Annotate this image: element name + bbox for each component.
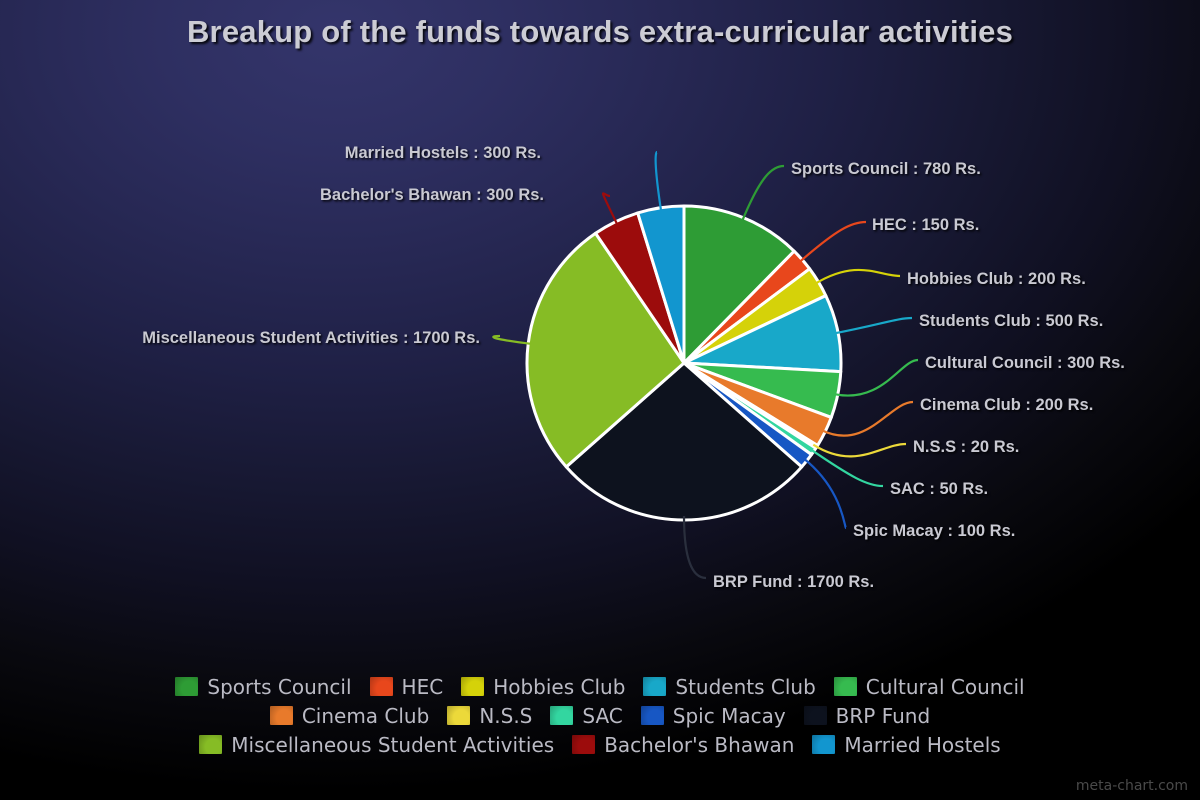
legend-swatch — [804, 706, 827, 725]
watermark: meta-chart.com — [1076, 778, 1188, 794]
legend-label: HEC — [402, 677, 444, 697]
callout-nss: N.S.S : 20 Rs. — [913, 438, 1019, 457]
chart-canvas: Breakup of the funds towards extra-curri… — [0, 0, 1200, 800]
legend-row: Sports CouncilHECHobbies ClubStudents Cl… — [0, 672, 1200, 701]
legend-swatch — [641, 706, 664, 725]
callout-hec: HEC : 150 Rs. — [872, 216, 979, 235]
legend-label: Bachelor's Bhawan — [604, 735, 794, 755]
leader-line — [603, 193, 618, 225]
legend-label: Cinema Club — [302, 706, 430, 726]
callout-students-club: Students Club : 500 Rs. — [919, 312, 1103, 331]
legend-swatch — [834, 677, 857, 696]
legend-item[interactable]: Bachelor's Bhawan — [572, 735, 794, 755]
callout-misc-student-activities: Miscellaneous Student Activities : 1700 … — [142, 329, 480, 348]
leader-line — [815, 270, 900, 284]
pie-slices — [527, 206, 841, 520]
leader-line — [493, 336, 532, 344]
leader-line — [813, 444, 906, 456]
callout-bachelors-bhawan: Bachelor's Bhawan : 300 Rs. — [320, 186, 544, 205]
leader-line — [834, 360, 918, 396]
leader-line — [810, 449, 883, 486]
legend-swatch — [550, 706, 573, 725]
legend-swatch — [370, 677, 393, 696]
callout-cinema-club: Cinema Club : 200 Rs. — [920, 396, 1093, 415]
legend: Sports CouncilHECHobbies ClubStudents Cl… — [0, 672, 1200, 759]
callout-sac: SAC : 50 Rs. — [890, 480, 988, 499]
legend-swatch — [461, 677, 484, 696]
legend-row: Cinema ClubN.S.SSACSpic MacayBRP Fund — [0, 701, 1200, 730]
legend-label: Students Club — [675, 677, 815, 697]
legend-label: N.S.S — [479, 706, 532, 726]
callout-spic-macay: Spic Macay : 100 Rs. — [853, 522, 1015, 541]
legend-row: Miscellaneous Student ActivitiesBachelor… — [0, 730, 1200, 759]
legend-item[interactable]: BRP Fund — [804, 706, 931, 726]
legend-swatch — [199, 735, 222, 754]
legend-item[interactable]: HEC — [370, 677, 444, 697]
callout-hobbies-club: Hobbies Club : 200 Rs. — [907, 270, 1086, 289]
legend-item[interactable]: Sports Council — [175, 677, 351, 697]
legend-swatch — [812, 735, 835, 754]
legend-swatch — [572, 735, 595, 754]
legend-swatch — [447, 706, 470, 725]
leader-line — [656, 152, 662, 212]
legend-label: SAC — [582, 706, 622, 726]
leader-line — [834, 318, 912, 333]
callout-married-hostels: Married Hostels : 300 Rs. — [345, 144, 541, 163]
legend-label: Cultural Council — [866, 677, 1025, 697]
legend-label: BRP Fund — [836, 706, 931, 726]
leader-line — [684, 516, 706, 578]
legend-label: Miscellaneous Student Activities — [231, 735, 554, 755]
legend-swatch — [643, 677, 666, 696]
legend-item[interactable]: Married Hostels — [812, 735, 1000, 755]
callout-sports-council: Sports Council : 780 Rs. — [791, 160, 981, 179]
legend-item[interactable]: Spic Macay — [641, 706, 786, 726]
legend-item[interactable]: Cinema Club — [270, 706, 430, 726]
legend-label: Married Hostels — [844, 735, 1000, 755]
legend-label: Sports Council — [207, 677, 351, 697]
legend-item[interactable]: Cultural Council — [834, 677, 1025, 697]
legend-item[interactable]: SAC — [550, 706, 622, 726]
legend-label: Spic Macay — [673, 706, 786, 726]
legend-item[interactable]: N.S.S — [447, 706, 532, 726]
legend-swatch — [270, 706, 293, 725]
leader-line — [799, 222, 866, 262]
legend-item[interactable]: Miscellaneous Student Activities — [199, 735, 554, 755]
legend-label: Hobbies Club — [493, 677, 625, 697]
callout-brp-fund: BRP Fund : 1700 Rs. — [713, 573, 874, 592]
callout-cultural-council: Cultural Council : 300 Rs. — [925, 354, 1125, 373]
legend-item[interactable]: Hobbies Club — [461, 677, 625, 697]
legend-swatch — [175, 677, 198, 696]
leader-line — [742, 166, 784, 221]
legend-item[interactable]: Students Club — [643, 677, 815, 697]
